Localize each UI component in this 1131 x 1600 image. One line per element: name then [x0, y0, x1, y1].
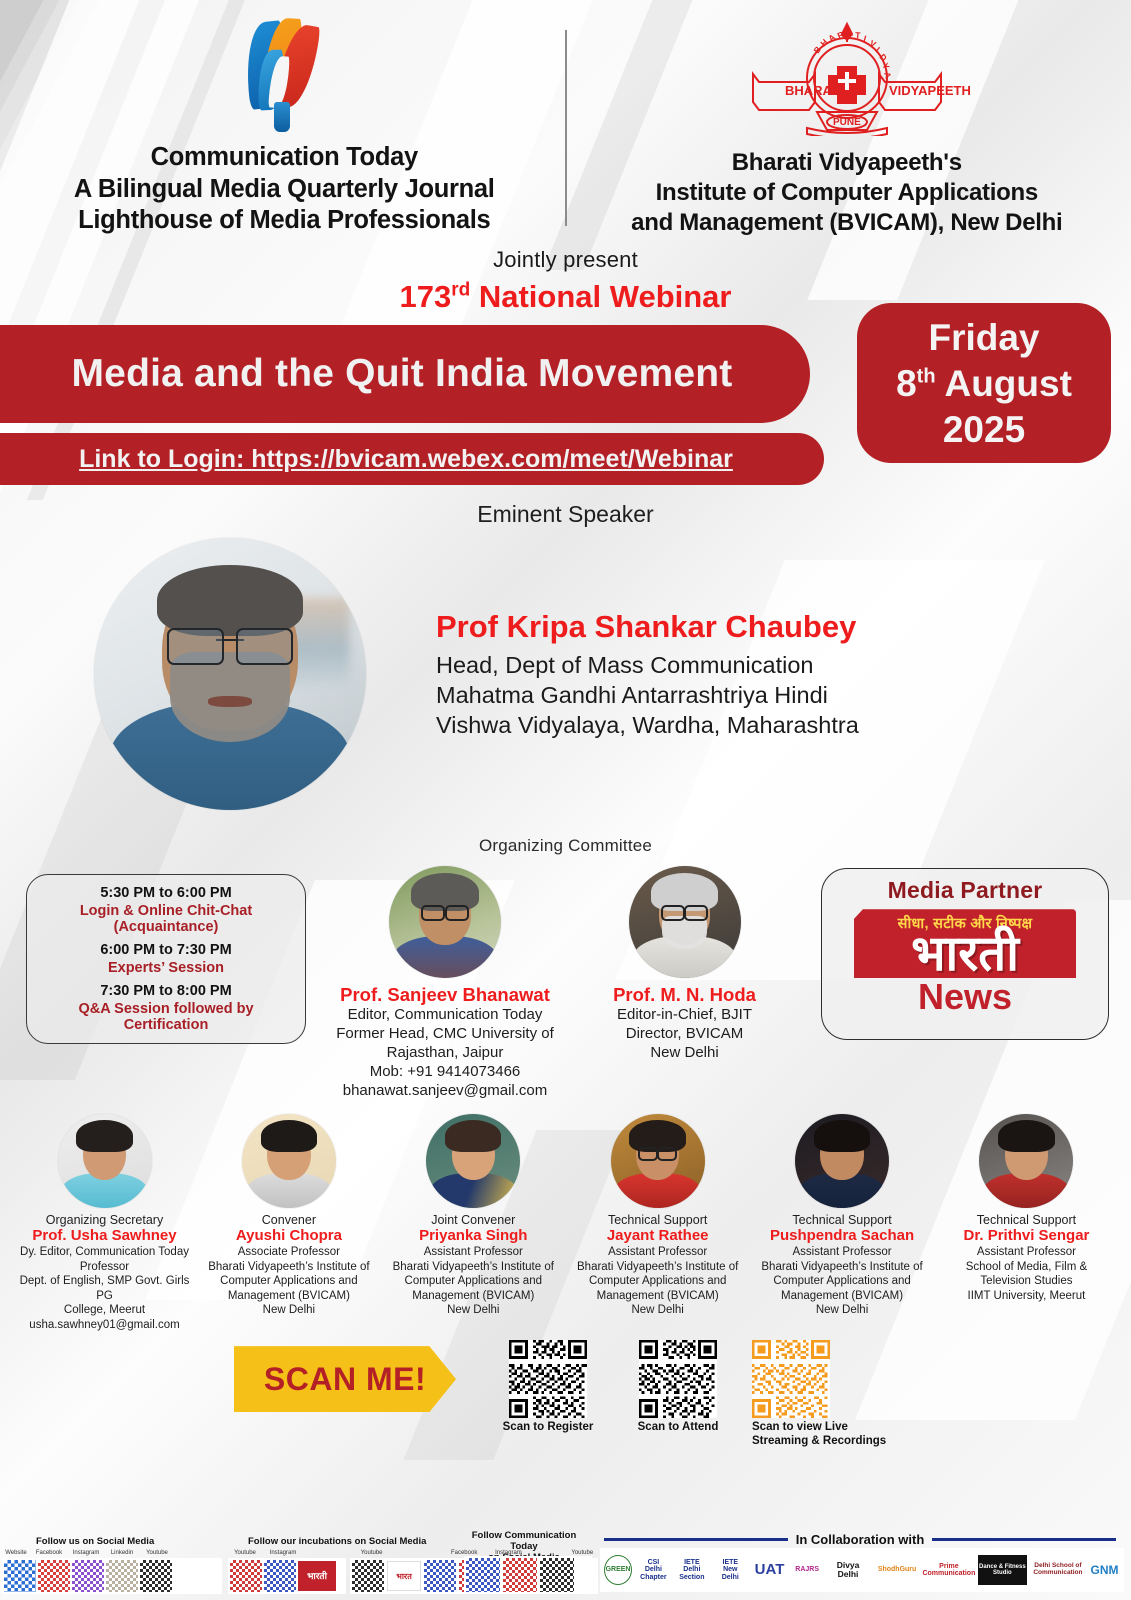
- collab-logo-iete-delhi: IETE Delhi Section: [675, 1555, 709, 1585]
- lead-line-2: Director, BVICAM: [582, 1025, 787, 1044]
- login-link-text[interactable]: Link to Login: https://bvicam.webex.com/…: [79, 445, 733, 474]
- member-line-5: New Delhi: [569, 1303, 746, 1317]
- committee-member: Technical Support Jayant Rathee Assistan…: [569, 1114, 746, 1332]
- member-line-4: College, Meerut: [16, 1303, 193, 1317]
- scan-me-label: SCAN ME!: [264, 1361, 426, 1398]
- login-link-bar[interactable]: Link to Login: https://bvicam.webex.com/…: [0, 433, 824, 485]
- inc-label-blank: [397, 1550, 440, 1556]
- qr-inc-facebook-icon[interactable]: [424, 1560, 456, 1592]
- page-title: Media and the Quit India Movement: [66, 352, 733, 396]
- event-date-badge: Friday 8th August 2025: [857, 303, 1111, 463]
- bharati-vidyapeeth-seal-icon: BHARATI VIDYAPEETH PUNE B H A R A T I V: [697, 16, 997, 136]
- qr-register-caption: Scan to Register: [492, 1421, 604, 1435]
- qr-inc-youtube-icon[interactable]: [352, 1560, 384, 1592]
- media-partner-label: Media Partner: [888, 877, 1043, 904]
- qr-ct-1-icon[interactable]: [466, 1558, 500, 1592]
- speaker-name: Prof Kripa Shankar Chaubey: [436, 609, 1101, 645]
- collab-logo-gnm: GNM: [1089, 1555, 1120, 1585]
- member-name: Dr. Prithvi Sengar: [938, 1227, 1115, 1245]
- social-label-youtube-2: Youtube: [228, 1550, 262, 1556]
- member-line-5: New Delhi: [754, 1303, 931, 1317]
- lead-line-1: Editor, Communication Today: [330, 1006, 560, 1025]
- collab-logo-dance-fitness: Dance & Fitness Studio: [978, 1555, 1027, 1585]
- bv-line-2: Institute of Computer Applications: [631, 178, 1062, 208]
- qr-instagram-icon[interactable]: [72, 1560, 104, 1592]
- social-label-instagram: Instagram: [68, 1550, 104, 1556]
- committee-lead: Prof. Sanjeev Bhanawat Editor, Communica…: [330, 866, 560, 1100]
- schedule-time: 5:30 PM to 6:00 PM: [35, 885, 297, 901]
- collaborator-logos: GREEN CSI Delhi Chapter IETE Delhi Secti…: [600, 1548, 1124, 1592]
- member-line-4: Management (BVICAM): [385, 1289, 562, 1303]
- avatar: [979, 1114, 1073, 1208]
- member-line-1: Assistant Professor: [754, 1245, 931, 1259]
- lead-line-3: Rajasthan, Jaipur: [330, 1044, 560, 1063]
- collab-divider-right: [932, 1538, 1116, 1541]
- follow-incubations-heading: Follow our incubations on Social Media: [248, 1536, 426, 1547]
- speaker-photo-wrap: [30, 538, 430, 810]
- member-line-2: School of Media, Film &: [938, 1260, 1115, 1274]
- collab-logo-green: GREEN: [604, 1555, 632, 1585]
- speaker-section: Prof Kripa Shankar Chaubey Head, Dept of…: [0, 538, 1131, 810]
- social-label-facebook: Facebook: [31, 1550, 67, 1556]
- qr-youtube-2-icon[interactable]: [230, 1560, 262, 1592]
- svg-text:PUNE: PUNE: [833, 117, 861, 128]
- member-line-3: Television Studies: [938, 1274, 1115, 1288]
- committee-member: Technical Support Dr. Prithvi Sengar Ass…: [938, 1114, 1115, 1332]
- communication-today-title: Communication Today A Bilingual Media Qu…: [74, 142, 495, 237]
- date-number: 8: [896, 363, 917, 404]
- date-year: 2025: [943, 411, 1025, 448]
- collab-logo-prime: Prime Communication: [925, 1555, 973, 1585]
- member-line-2: Bharati Vidyapeeth’s Institute of: [754, 1260, 931, 1274]
- qr-code-icon[interactable]: [639, 1340, 717, 1418]
- member-line-2: Professor: [16, 1260, 193, 1274]
- ct-line-1: Communication Today: [74, 142, 495, 174]
- social-label-youtube: Youtube: [140, 1550, 174, 1556]
- eminent-speaker-label: Eminent Speaker: [0, 501, 1131, 528]
- follow-us-heading: Follow us on Social Media: [36, 1536, 154, 1547]
- speaker-affiliation-1: Head, Dept of Mass Communication: [436, 650, 1101, 680]
- member-line-3: Dept. of English, SMP Govt. Girls PG: [16, 1274, 193, 1303]
- collab-logo-iete-newdelhi: IETE New Delhi: [714, 1555, 747, 1585]
- qr-live-stream[interactable]: Scan to view Live Streaming & Recordings: [748, 1340, 888, 1449]
- member-name: Priyanka Singh: [385, 1227, 562, 1245]
- member-line-5: usha.sawhney01@gmail.com: [16, 1318, 193, 1332]
- avatar: [611, 1114, 705, 1208]
- collab-logo-uat: UAT: [752, 1555, 788, 1585]
- member-line-4: Management (BVICAM): [569, 1289, 746, 1303]
- social-qr-strip-2[interactable]: भारती: [228, 1558, 346, 1594]
- committee-member: Technical Support Pushpendra Sachan Assi…: [754, 1114, 931, 1332]
- speaker-avatar: [94, 538, 366, 810]
- qr-register[interactable]: Scan to Register: [492, 1340, 604, 1435]
- schedule-desc: Experts’ Session: [100, 960, 231, 976]
- member-line-4: Management (BVICAM): [200, 1289, 377, 1303]
- schedule-time: 7:30 PM to 8:00 PM: [35, 983, 297, 999]
- bv-line-3: and Management (BVICAM), New Delhi: [631, 208, 1062, 238]
- date-day: Friday: [928, 319, 1039, 356]
- svg-text:A: A: [845, 28, 853, 39]
- member-line-3: Computer Applications and: [385, 1274, 562, 1288]
- qr-attend[interactable]: Scan to Attend: [622, 1340, 734, 1435]
- schedule-box: 5:30 PM to 6:00 PM Login & Online Chit-C…: [26, 874, 306, 1044]
- member-role: Technical Support: [938, 1213, 1115, 1227]
- collab-divider-left: [604, 1538, 788, 1541]
- member-line-4: IIMT University, Meerut: [938, 1289, 1115, 1303]
- bvicam-title: Bharati Vidyapeeth's Institute of Comput…: [631, 148, 1062, 237]
- avatar: [629, 866, 741, 978]
- avatar: [795, 1114, 889, 1208]
- follow-us-labels-2: Youtube Instagram: [228, 1550, 338, 1556]
- committee-member: Organizing Secretary Prof. Usha Sawhney …: [16, 1114, 193, 1332]
- qr-code-icon[interactable]: [509, 1340, 587, 1418]
- date-day-month: 8th August: [896, 365, 1072, 402]
- member-line-5: New Delhi: [385, 1303, 562, 1317]
- qr-instagram-2-icon[interactable]: [264, 1560, 296, 1592]
- torch-icon: [230, 16, 338, 134]
- member-line-5: New Delhi: [200, 1303, 377, 1317]
- schedule-desc: Login & Online Chit-Chat (Acquaintance): [35, 903, 297, 935]
- committee-lead: Prof. M. N. Hoda Editor-in-Chief, BJIT D…: [582, 866, 787, 1063]
- jointly-present-label: Jointly present: [0, 247, 1131, 273]
- svg-text:T: T: [855, 30, 862, 40]
- speaker-info: Prof Kripa Shankar Chaubey Head, Dept of…: [430, 609, 1101, 740]
- member-line-2: Bharati Vidyapeeth’s Institute of: [569, 1260, 746, 1274]
- communication-today-block: Communication Today A Bilingual Media Qu…: [22, 16, 565, 237]
- qr-attend-caption: Scan to Attend: [622, 1421, 734, 1435]
- social-label-linkedin: Linkedin: [105, 1550, 139, 1556]
- member-name: Ayushi Chopra: [200, 1227, 377, 1245]
- follow-us-labels: Website Facebook Instagram Linkedin Yout…: [2, 1550, 224, 1556]
- qr-linkedin-icon[interactable]: [106, 1560, 138, 1592]
- organizing-committee-row: 5:30 PM to 6:00 PM Login & Online Chit-C…: [0, 862, 1131, 1110]
- schedule-item: 5:30 PM to 6:00 PM Login & Online Chit-C…: [35, 885, 297, 935]
- social-label-instagram-2: Instagram: [264, 1550, 302, 1556]
- qr-row: SCAN ME!: [0, 1340, 1131, 1458]
- member-line-1: Assistant Professor: [938, 1245, 1115, 1259]
- member-line-1: Dy. Editor, Communication Today: [16, 1245, 193, 1259]
- inc-label-youtube: Youtube: [350, 1550, 393, 1556]
- member-role: Convener: [200, 1213, 377, 1227]
- svg-text:VIDYAPEETH: VIDYAPEETH: [889, 83, 971, 98]
- qr-website-icon[interactable]: [4, 1560, 36, 1592]
- schedule-time: 6:00 PM to 7:30 PM: [100, 942, 231, 958]
- member-line-1: Associate Professor: [200, 1245, 377, 1259]
- avatar: [242, 1114, 336, 1208]
- collab-logo-shodhguru: ShodhGuru: [874, 1555, 920, 1585]
- avatar: [426, 1114, 520, 1208]
- member-role: Joint Convener: [385, 1213, 562, 1227]
- schedule-item: 7:30 PM to 8:00 PM Q&A Session followed …: [35, 983, 297, 1033]
- lead-line-5: bhanawat.sanjeev@gmail.com: [330, 1082, 560, 1101]
- ct-line-3: Lighthouse of Media Professionals: [74, 205, 495, 237]
- organizing-committee-label: Organizing Committee: [0, 836, 1131, 856]
- webinar-poster: Communication Today A Bilingual Media Qu…: [0, 0, 1131, 1600]
- svg-text:BHARATI: BHARATI: [785, 83, 843, 98]
- svg-text:A: A: [882, 71, 893, 80]
- member-line-3: Computer Applications and: [200, 1274, 377, 1288]
- collab-logo-rajrs: RAJRS: [792, 1555, 821, 1585]
- lead-line-4: Mob: +91 9414073466: [330, 1063, 560, 1082]
- title-row: Media and the Quit India Movement Friday…: [0, 325, 1131, 455]
- qr-code-icon[interactable]: [752, 1340, 830, 1418]
- poster-header: Communication Today A Bilingual Media Qu…: [0, 0, 1131, 237]
- date-month: August: [936, 363, 1072, 404]
- speaker-affiliation-2: Mahatma Gandhi Antarrashtriya Hindi: [436, 680, 1101, 710]
- lead-line-1: Editor-in-Chief, BJIT: [582, 1006, 787, 1025]
- collab-logo-delhi-school: Delhi School of Communication: [1032, 1555, 1084, 1585]
- collab-logo-csi: CSI Delhi Chapter: [637, 1555, 670, 1585]
- committee-lead-name: Prof. Sanjeev Bhanawat: [330, 984, 560, 1006]
- incubation-logo-1: भारत: [387, 1561, 421, 1591]
- svg-text:I: I: [862, 33, 867, 43]
- member-line-2: Bharati Vidyapeeth’s Institute of: [385, 1260, 562, 1274]
- committee-member: Convener Ayushi Chopra Associate Profess…: [200, 1114, 377, 1332]
- bharati-news-mini-logo: भारती: [298, 1561, 336, 1591]
- qr-youtube-icon[interactable]: [140, 1560, 172, 1592]
- committee-member: Joint Convener Priyanka Singh Assistant …: [385, 1114, 562, 1332]
- media-partner-box: Media Partner सीधा, सटीक और निष्पक्ष भार…: [821, 868, 1109, 1040]
- webinar-label: National Webinar: [470, 279, 731, 314]
- social-qr-strip-1[interactable]: [2, 1558, 222, 1594]
- member-role: Technical Support: [754, 1213, 931, 1227]
- member-line-1: Assistant Professor: [569, 1245, 746, 1259]
- qr-live-caption: Scan to view Live Streaming & Recordings: [748, 1421, 888, 1449]
- schedule-item: 6:00 PM to 7:30 PM Experts’ Session: [100, 942, 231, 976]
- scan-me-banner: SCAN ME!: [234, 1346, 456, 1412]
- webinar-ordinal: rd: [451, 280, 470, 301]
- member-name: Pushpendra Sachan: [754, 1227, 931, 1245]
- date-ordinal: th: [917, 365, 936, 387]
- poster-footer: Follow us on Social Media Website Facebo…: [0, 1504, 1131, 1600]
- qr-ct-3-icon[interactable]: [540, 1558, 574, 1592]
- social-label-website: Website: [2, 1550, 30, 1556]
- committee-lead-name: Prof. M. N. Hoda: [582, 984, 787, 1006]
- bharati-news-logo: सीधा, सटीक और निष्पक्ष भारती: [854, 909, 1076, 978]
- member-line-3: Computer Applications and: [754, 1274, 931, 1288]
- member-name: Prof. Usha Sawhney: [16, 1227, 193, 1245]
- collaboration-label: In Collaboration with: [796, 1532, 925, 1547]
- ct-line-2: A Bilingual Media Quarterly Journal: [74, 174, 495, 206]
- committee-grid: Organizing Secretary Prof. Usha Sawhney …: [0, 1114, 1131, 1332]
- avatar: [389, 866, 501, 978]
- webinar-number: 173: [400, 279, 452, 314]
- qr-facebook-icon[interactable]: [38, 1560, 70, 1592]
- qr-ct-2-icon[interactable]: [503, 1558, 537, 1592]
- bv-line-1: Bharati Vidyapeeth's: [631, 148, 1062, 178]
- media-partner-brand-en: News: [918, 979, 1012, 1015]
- collab-logo-divya-delhi: Divya Delhi: [827, 1555, 869, 1585]
- schedule-desc: Q&A Session followed by Certification: [35, 1001, 297, 1033]
- lead-line-3: New Delhi: [582, 1044, 787, 1063]
- member-line-2: Bharati Vidyapeeth’s Institute of: [200, 1260, 377, 1274]
- event-title-bar: Media and the Quit India Movement: [0, 325, 810, 423]
- member-role: Technical Support: [569, 1213, 746, 1227]
- bvicam-block: BHARATI VIDYAPEETH PUNE B H A R A T I V: [567, 16, 1110, 237]
- member-role: Organizing Secretary: [16, 1213, 193, 1227]
- collaboration-heading-row: In Collaboration with: [604, 1532, 1116, 1547]
- ct-qr-strip[interactable]: [464, 1556, 592, 1594]
- lead-line-2: Former Head, CMC University of: [330, 1025, 560, 1044]
- member-name: Jayant Rathee: [569, 1227, 746, 1245]
- member-line-3: Computer Applications and: [569, 1274, 746, 1288]
- speaker-affiliation-3: Vishwa Vidyalaya, Wardha, Maharashtra: [436, 710, 1101, 740]
- member-line-1: Assistant Professor: [385, 1245, 562, 1259]
- avatar: [58, 1114, 152, 1208]
- member-line-4: Management (BVICAM): [754, 1289, 931, 1303]
- media-partner-brand-hindi: भारती: [854, 931, 1076, 978]
